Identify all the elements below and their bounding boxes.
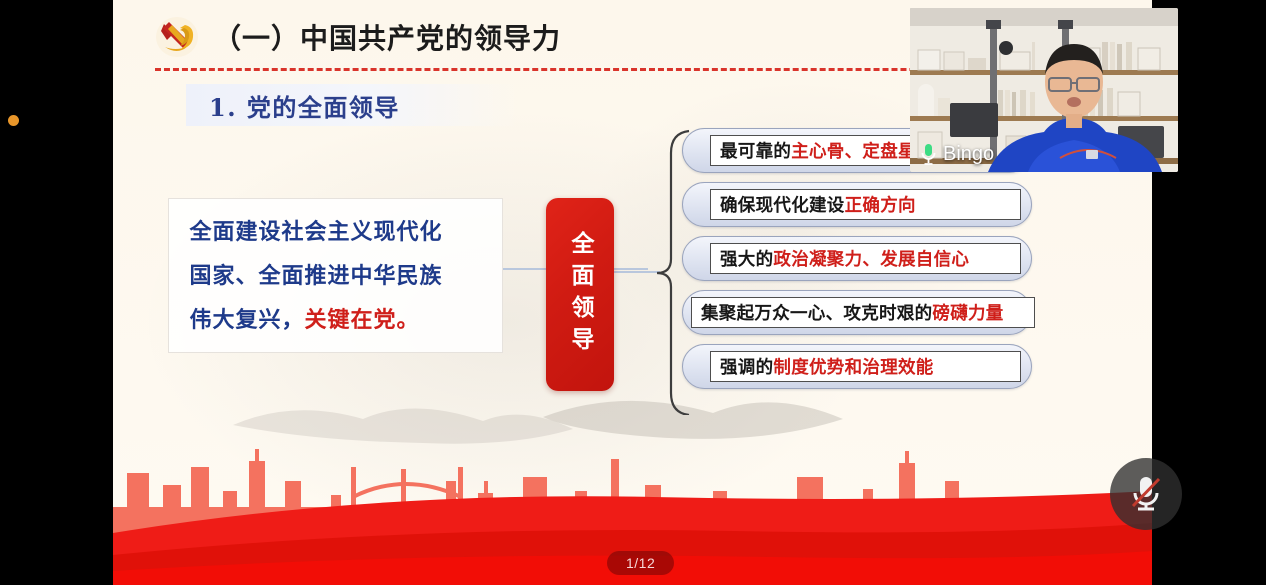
page-title: （一）中国共产党的领导力 bbox=[213, 17, 561, 57]
quote-highlight: 关键在党。 bbox=[305, 307, 420, 333]
list-item-highlight: 主心骨、定盘星 bbox=[791, 138, 916, 163]
list-item-text: 强大的政治凝聚力、发展自信心 bbox=[710, 243, 1021, 274]
list-item-highlight: 制度优势和治理效能 bbox=[773, 354, 933, 379]
list-item-plain: 确保现代化建设 bbox=[720, 192, 845, 217]
list-item[interactable]: 强大的政治凝聚力、发展自信心 bbox=[682, 236, 1032, 281]
list-item-highlight: 正确方向 bbox=[845, 192, 916, 217]
quote-line-1: 全面建设社会主义现代化 bbox=[190, 219, 443, 245]
slide-title-row: （一）中国共产党的领导力 bbox=[155, 14, 561, 60]
microphone-muted-icon bbox=[1129, 474, 1163, 514]
subtitle: 1. 党的全面领导 bbox=[209, 88, 400, 123]
list-item[interactable]: 确保现代化建设正确方向 bbox=[682, 182, 1032, 227]
microphone-icon bbox=[920, 143, 937, 166]
mute-button[interactable] bbox=[1110, 458, 1182, 530]
party-emblem-icon bbox=[155, 16, 199, 58]
participant-label: Bingo bbox=[920, 143, 994, 166]
list-item-plain: 强大的 bbox=[720, 246, 773, 271]
quote-panel: 全面建设社会主义现代化 国家、全面推进中华民族 伟大复兴，关键在党。 bbox=[168, 198, 503, 353]
presentation-viewer: （一）中国共产党的领导力 1. 党的全面领导 全面建设社会主义现代化 国家、全面… bbox=[0, 0, 1266, 585]
list-item-text: 强调的制度优势和治理效能 bbox=[710, 351, 1021, 382]
list-item-plain: 最可靠的 bbox=[720, 138, 791, 163]
participant-name: Bingo bbox=[943, 143, 994, 166]
page-indicator: 1/12 bbox=[607, 551, 674, 575]
center-concept-label: 全面领导 bbox=[563, 231, 597, 359]
participant-video-tile[interactable]: Bingo bbox=[910, 8, 1178, 172]
list-item[interactable]: 强调的制度优势和治理效能 bbox=[682, 344, 1032, 389]
status-dot bbox=[8, 115, 19, 126]
list-item-text: 确保现代化建设正确方向 bbox=[710, 189, 1021, 220]
quote-text: 全面建设社会主义现代化 国家、全面推进中华民族 伟大复兴，关键在党。 bbox=[190, 210, 482, 342]
quote-line-2: 国家、全面推进中华民族 bbox=[190, 263, 443, 289]
list-item-plain: 强调的 bbox=[720, 354, 773, 379]
list-item-highlight: 磅礴力量 bbox=[932, 300, 1003, 325]
quote-line-3: 伟大复兴， bbox=[190, 307, 305, 333]
list-item[interactable]: 集聚起万众一心、攻克时艰的磅礴力量 bbox=[682, 290, 1032, 335]
list-item-plain: 集聚起万众一心、攻克时艰的 bbox=[701, 300, 932, 325]
list-item-highlight: 政治凝聚力、发展自信心 bbox=[773, 246, 969, 271]
center-concept-box[interactable]: 全面领导 bbox=[546, 198, 614, 391]
list-item-text: 集聚起万众一心、攻克时艰的磅礴力量 bbox=[691, 297, 1035, 328]
